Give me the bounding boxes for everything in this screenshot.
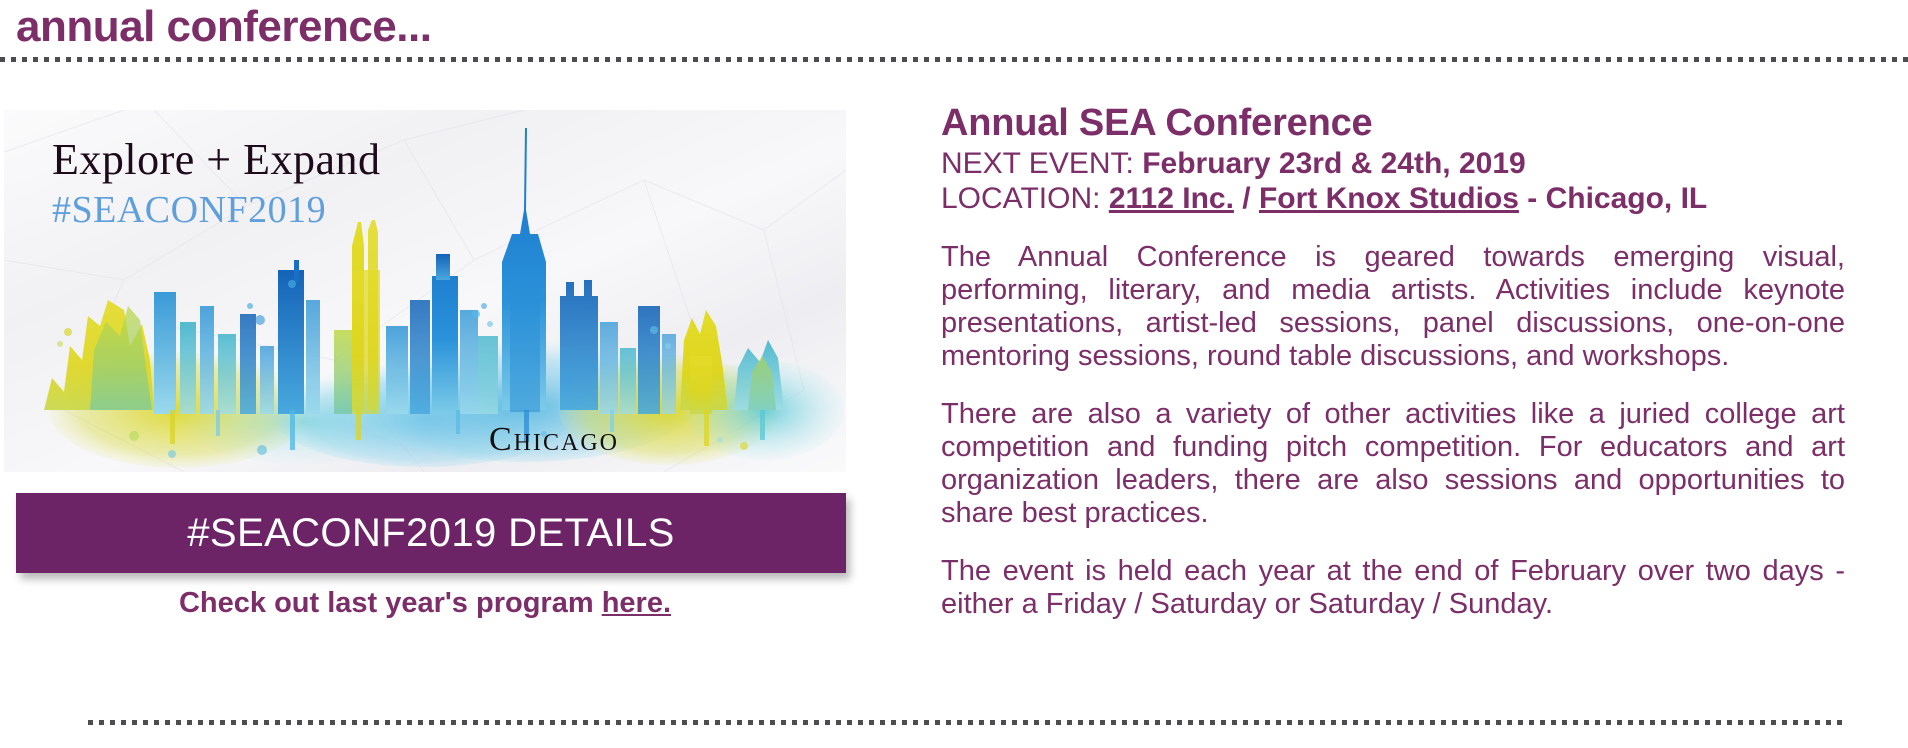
location-label: LOCATION: [941,182,1100,215]
seaconf-details-button[interactable]: #SEACONF2019 DETAILS [16,493,846,573]
venue-2112-inc-link[interactable]: 2112 Inc. [1109,182,1234,215]
banner-hashtag: #SEACONF2019 [52,188,326,232]
page-root: annual conference... [0,0,1908,748]
description-paragraph-2: There are also a variety of other activi… [941,398,1845,530]
event-title: Annual SEA Conference [941,100,1845,146]
conference-banner-image[interactable]: Explore + Expand #SEACONF2019 Chicago [4,110,846,472]
location-line: LOCATION: 2112 Inc. / Fort Knox Studios … [941,181,1845,216]
banner-title: Explore + Expand [52,134,381,185]
banner-city-label: Chicago [489,421,619,459]
right-column: Annual SEA Conference NEXT EVENT: Februa… [941,100,1845,621]
location-separator: / [1234,182,1259,215]
next-event-label: NEXT EVENT: [941,147,1134,180]
description-paragraph-1: The Annual Conference is geared towards … [941,241,1845,373]
location-suffix: - Chicago, IL [1519,182,1707,215]
last-year-program-caption: Check out last year's program here. [4,587,846,620]
caption-text: Check out last year's program [179,587,602,619]
description-paragraph-3: The event is held each year at the end o… [941,555,1845,621]
last-year-program-link[interactable]: here. [602,587,671,619]
next-event-value: February 23rd & 24th, 2019 [1142,147,1526,180]
next-event-line: NEXT EVENT: February 23rd & 24th, 2019 [941,146,1845,181]
page-title: annual conference... [16,0,431,56]
divider-top [0,57,1908,62]
left-column: Explore + Expand #SEACONF2019 Chicago #S… [0,100,900,660]
venue-fort-knox-studios-link[interactable]: Fort Knox Studios [1259,182,1519,215]
divider-bottom [88,720,1845,725]
